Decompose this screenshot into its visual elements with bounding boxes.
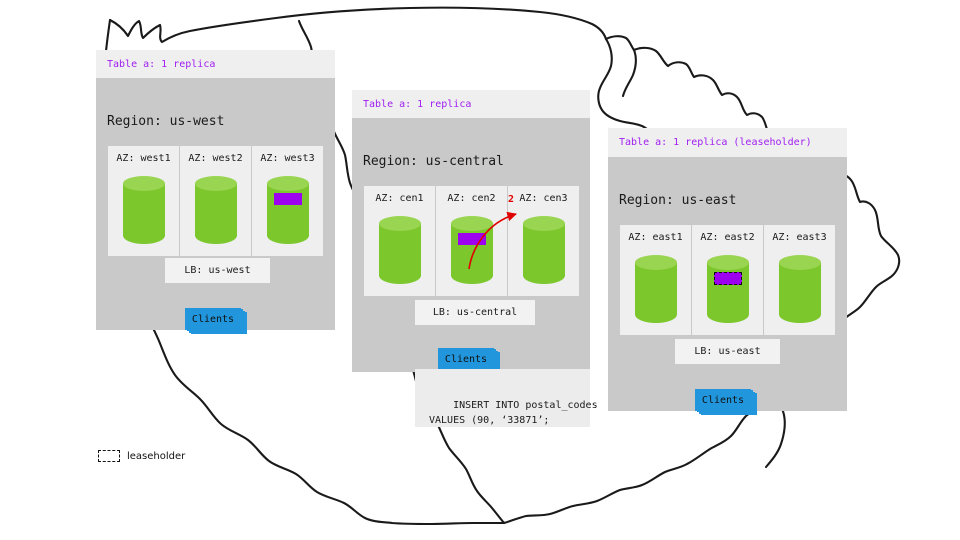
node-cylinder-east2[interactable] — [707, 255, 749, 323]
cylinder-body — [635, 262, 677, 323]
region-panel-us-west: Table a: 1 replica Region: us-west AZ: w… — [96, 50, 335, 330]
clients-button[interactable]: Clients — [185, 308, 241, 330]
region-header-us-west: Table a: 1 replica — [96, 50, 335, 78]
legend-leaseholder: leaseholder — [98, 450, 185, 462]
load-balancer-label: LB: us-west — [184, 265, 250, 276]
az-cell-east2[interactable]: AZ: east2 — [692, 225, 764, 335]
az-label: AZ: west1 — [108, 153, 179, 164]
cylinder-top — [379, 216, 421, 231]
sql-statement-text: INSERT INTO postal_codes VALUES (90, ‘33… — [429, 400, 598, 426]
cylinder-top — [779, 255, 821, 270]
cylinder-body — [195, 183, 237, 244]
cylinder-top — [195, 176, 237, 191]
region-header-label: Table a: 1 replica (leaseholder) — [619, 137, 812, 148]
az-strip-us-west: AZ: west1 AZ: west2 AZ: west3 — [108, 146, 323, 256]
az-cell-west3[interactable]: AZ: west3 — [252, 146, 323, 256]
az-label: AZ: west2 — [180, 153, 251, 164]
region-header-label: Table a: 1 replica — [107, 59, 215, 70]
legend-label: leaseholder — [127, 451, 185, 462]
clients-label: Clients — [702, 395, 744, 406]
load-balancer-label: LB: us-central — [433, 307, 517, 318]
load-balancer-us-west[interactable]: LB: us-west — [165, 258, 270, 283]
region-title-us-east: Region: us-east — [619, 193, 736, 208]
cylinder-body — [123, 183, 165, 244]
arrow-step-label: 2 — [508, 194, 514, 205]
routing-arrow-icon — [440, 185, 550, 285]
az-cell-west2[interactable]: AZ: west2 — [180, 146, 252, 256]
replica-block-west3[interactable] — [274, 193, 302, 205]
az-cell-east1[interactable]: AZ: east1 — [620, 225, 692, 335]
dashed-rectangle-icon — [98, 450, 120, 462]
replica-block-leaseholder-east2[interactable] — [714, 272, 742, 285]
az-cell-west1[interactable]: AZ: west1 — [108, 146, 180, 256]
region-header-us-central: Table a: 1 replica — [352, 90, 590, 118]
region-header-us-east: Table a: 1 replica (leaseholder) — [608, 128, 847, 157]
az-strip-us-east: AZ: east1 AZ: east2 AZ: east3 — [620, 225, 835, 335]
node-cylinder-west1[interactable] — [123, 176, 165, 244]
clients-button[interactable]: Clients — [438, 348, 494, 370]
cylinder-top — [123, 176, 165, 191]
region-panel-us-east: Table a: 1 replica (leaseholder) Region:… — [608, 128, 847, 411]
load-balancer-us-central[interactable]: LB: us-central — [415, 300, 535, 325]
diagram-canvas: Table a: 1 replica Region: us-west AZ: w… — [0, 0, 960, 540]
region-body-us-west: Region: us-west AZ: west1 AZ: west2 — [96, 78, 335, 330]
region-header-label: Table a: 1 replica — [363, 99, 471, 110]
clients-button[interactable]: Clients — [695, 389, 751, 411]
node-cylinder-cen1[interactable] — [379, 216, 421, 284]
cylinder-body — [379, 223, 421, 284]
region-title-us-west: Region: us-west — [107, 114, 224, 129]
az-label: AZ: west3 — [252, 153, 323, 164]
node-cylinder-east3[interactable] — [779, 255, 821, 323]
clients-stack-us-east[interactable]: Clients — [695, 389, 757, 415]
cylinder-top — [267, 176, 309, 191]
region-body-us-east: Region: us-east AZ: east1 AZ: east2 — [608, 157, 847, 411]
az-cell-cen1[interactable]: AZ: cen1 — [364, 186, 436, 296]
node-cylinder-west3[interactable] — [267, 176, 309, 244]
load-balancer-us-east[interactable]: LB: us-east — [675, 339, 780, 364]
clients-label: Clients — [445, 354, 487, 365]
node-cylinder-east1[interactable] — [635, 255, 677, 323]
node-cylinder-west2[interactable] — [195, 176, 237, 244]
sql-statement-panel: INSERT INTO postal_codes VALUES (90, ‘33… — [415, 369, 590, 427]
cylinder-top — [707, 255, 749, 270]
az-cell-east3[interactable]: AZ: east3 — [764, 225, 835, 335]
az-label: AZ: east1 — [620, 232, 691, 243]
cylinder-body — [779, 262, 821, 323]
clients-label: Clients — [192, 314, 234, 325]
az-label: AZ: east3 — [764, 232, 835, 243]
cylinder-top — [635, 255, 677, 270]
load-balancer-label: LB: us-east — [694, 346, 760, 357]
clients-stack-us-west[interactable]: Clients — [185, 308, 247, 334]
region-title-us-central: Region: us-central — [363, 154, 504, 169]
az-label: AZ: cen1 — [364, 193, 435, 204]
az-label: AZ: east2 — [692, 232, 763, 243]
